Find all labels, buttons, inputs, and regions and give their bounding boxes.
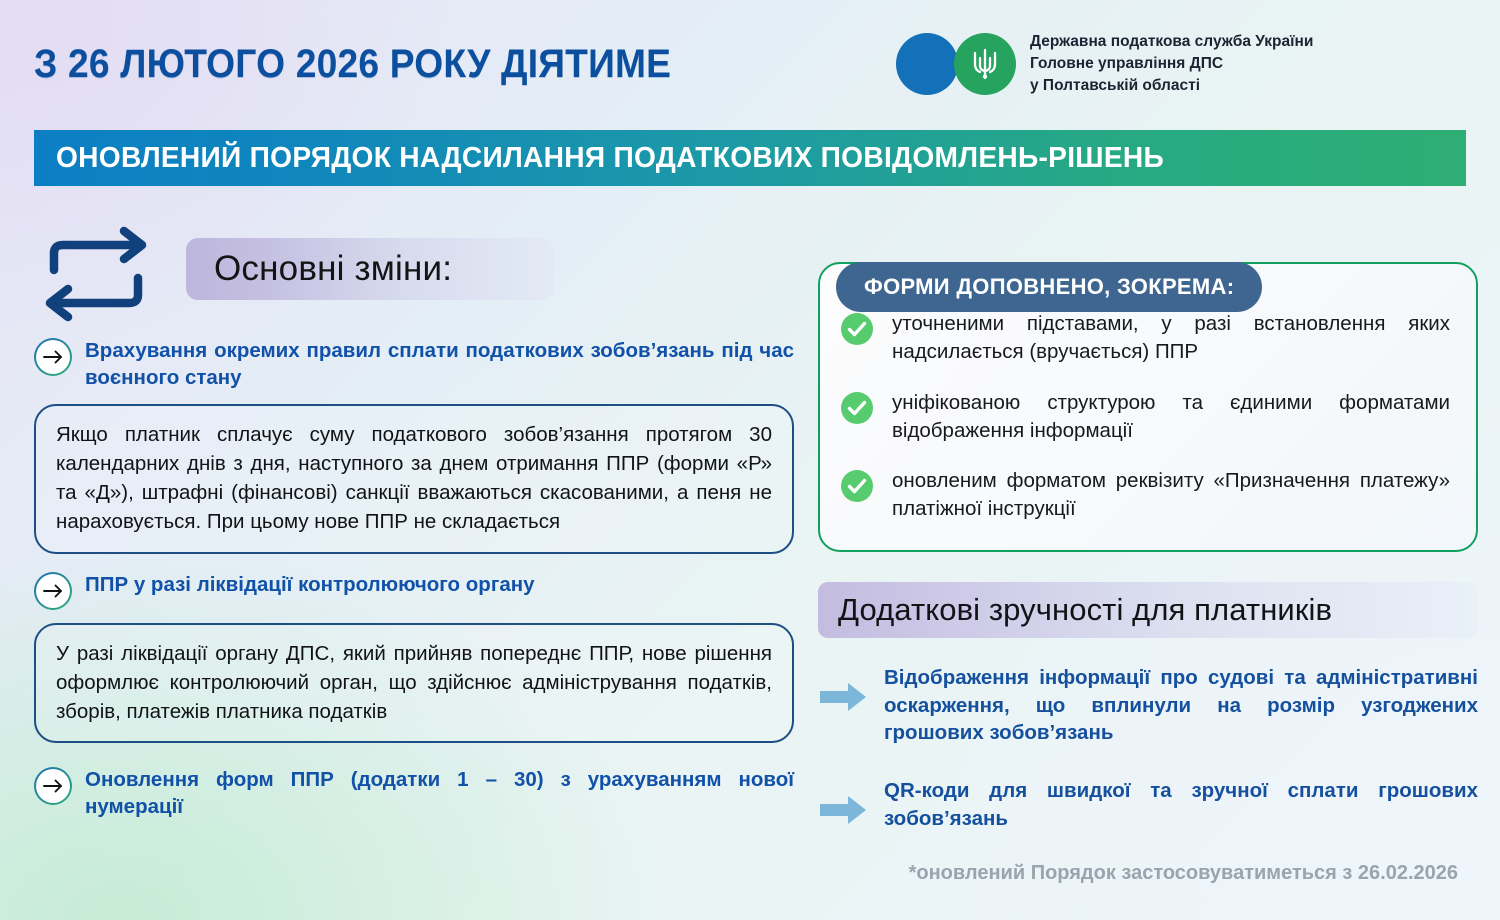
main-changes-label: Основні зміни: bbox=[214, 249, 452, 289]
check-circle-icon bbox=[840, 391, 874, 425]
refresh-arrows-icon bbox=[40, 226, 152, 327]
extras-item-2-text: QR-коди для швидкої та зручної сплати гр… bbox=[884, 777, 1478, 833]
subtitle-banner: ОНОВЛЕНИЙ ПОРЯДОК НАДСИЛАННЯ ПОДАТКОВИХ … bbox=[34, 130, 1466, 186]
extras-panel-title-pill: Додаткові зручності для платників bbox=[818, 582, 1478, 638]
forms-item-1-text: уточненими підставами, у разі встановлен… bbox=[892, 310, 1450, 367]
footnote: *оновлений Порядок застосовуватиметься з… bbox=[818, 862, 1458, 885]
logo-line-2: Головне управління ДПС bbox=[1030, 55, 1313, 74]
forms-item-3: оновленим форматом реквізиту «Призначенн… bbox=[840, 467, 1450, 524]
extras-item-1: Відображення інформації про судові та ад… bbox=[818, 664, 1478, 748]
logo-marks bbox=[896, 33, 1016, 95]
logo-blue-circle-icon bbox=[896, 33, 958, 95]
check-circle-icon bbox=[840, 312, 874, 346]
extras-item-1-text: Відображення інформації про судові та ад… bbox=[884, 664, 1478, 748]
extras-item-2: QR-коди для швидкої та зручної сплати гр… bbox=[818, 777, 1478, 833]
arrow-right-circle-icon bbox=[34, 338, 72, 376]
main-changes-pill: Основні зміни: bbox=[186, 238, 554, 300]
left-item-2: ППР у разі ліквідації контролюючого орга… bbox=[34, 570, 794, 610]
left-item-1-box: Якщо платник сплачує суму податкового зо… bbox=[34, 404, 794, 553]
forms-item-2: уніфікованою структурою та єдиними форма… bbox=[840, 389, 1450, 446]
left-item-3: Оновлення форм ППР (додатки 1 – 30) з ур… bbox=[34, 765, 794, 820]
forms-panel: ФОРМИ ДОПОВНЕНО, ЗОКРЕМА: уточненими під… bbox=[818, 262, 1478, 552]
arrow-right-circle-icon bbox=[34, 767, 72, 805]
logo-line-1: Державна податкова служба України bbox=[1030, 33, 1313, 52]
ukraine-trident-icon bbox=[971, 46, 999, 82]
main-changes-heading: Основні зміни: bbox=[34, 220, 794, 320]
left-item-1: Врахування окремих правил сплати податко… bbox=[34, 336, 794, 391]
logo-green-circle-icon bbox=[954, 33, 1016, 95]
left-item-3-heading: Оновлення форм ППР (додатки 1 – 30) з ур… bbox=[85, 765, 794, 820]
agency-logo: Державна податкова служба України Головн… bbox=[896, 33, 1313, 96]
page-title: З 26 ЛЮТОГО 2026 РОКУ ДІЯТИМЕ bbox=[34, 42, 671, 87]
forms-item-3-text: оновленим форматом реквізиту «Призначенн… bbox=[892, 467, 1450, 524]
extras-panel-title: Додаткові зручності для платників bbox=[838, 592, 1332, 628]
header: З 26 ЛЮТОГО 2026 РОКУ ДІЯТИМЕ Державна bbox=[0, 0, 1500, 120]
check-circle-icon bbox=[840, 469, 874, 503]
forms-panel-title-pill: ФОРМИ ДОПОВНЕНО, ЗОКРЕМА: bbox=[836, 262, 1262, 312]
arrow-right-thick-icon bbox=[820, 680, 868, 714]
forms-panel-title: ФОРМИ ДОПОВНЕНО, ЗОКРЕМА: bbox=[864, 274, 1234, 300]
forms-item-1: уточненими підставами, у разі встановлен… bbox=[840, 310, 1450, 367]
arrow-right-circle-icon bbox=[34, 572, 72, 610]
subtitle-banner-text: ОНОВЛЕНИЙ ПОРЯДОК НАДСИЛАННЯ ПОДАТКОВИХ … bbox=[56, 142, 1164, 175]
arrow-right-thick-icon bbox=[820, 793, 868, 827]
left-item-2-body: У разі ліквідації органу ДПС, який прийн… bbox=[56, 639, 772, 726]
left-item-2-box: У разі ліквідації органу ДПС, який прийн… bbox=[34, 623, 794, 743]
left-column: Основні зміни: Врахування окремих правил… bbox=[34, 220, 794, 820]
logo-text-block: Державна податкова служба України Головн… bbox=[1030, 33, 1313, 96]
right-column: ФОРМИ ДОПОВНЕНО, ЗОКРЕМА: уточненими під… bbox=[818, 236, 1478, 833]
left-item-1-body: Якщо платник сплачує суму податкового зо… bbox=[56, 420, 772, 536]
left-item-2-heading: ППР у разі ліквідації контролюючого орга… bbox=[85, 570, 535, 598]
left-item-1-heading: Врахування окремих правил сплати податко… bbox=[85, 336, 794, 391]
logo-line-3: у Полтавській області bbox=[1030, 77, 1313, 96]
forms-item-2-text: уніфікованою структурою та єдиними форма… bbox=[892, 389, 1450, 446]
